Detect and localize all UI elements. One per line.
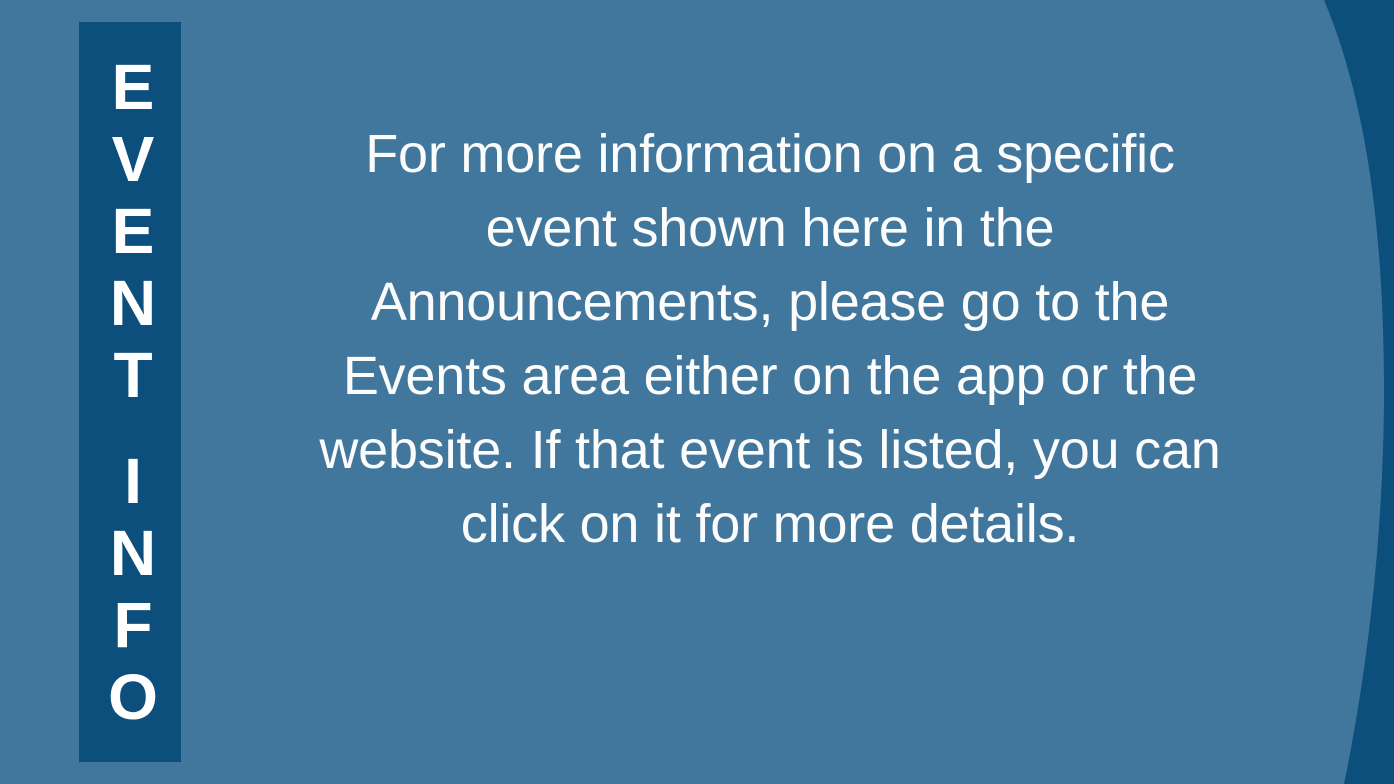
title-letter-7: N	[110, 517, 156, 589]
vertical-title-text: E V E N T I N F O	[102, 51, 158, 733]
title-letter-6: I	[124, 445, 142, 517]
title-letter-4: N	[110, 267, 156, 339]
slide-canvas: E V E N T I N F O For more information o…	[0, 0, 1394, 784]
title-letter-5: T	[113, 339, 152, 411]
body-paragraph: For more information on a specific event…	[300, 118, 1240, 562]
title-letter-2: V	[112, 123, 155, 195]
title-letter-9: O	[108, 661, 158, 733]
title-letter-8: F	[113, 589, 152, 661]
title-letter-3: E	[112, 195, 155, 267]
curved-accent-shape	[1274, 0, 1394, 784]
title-letter-1: E	[112, 51, 155, 123]
vertical-title-bar: E V E N T I N F O	[79, 22, 181, 762]
